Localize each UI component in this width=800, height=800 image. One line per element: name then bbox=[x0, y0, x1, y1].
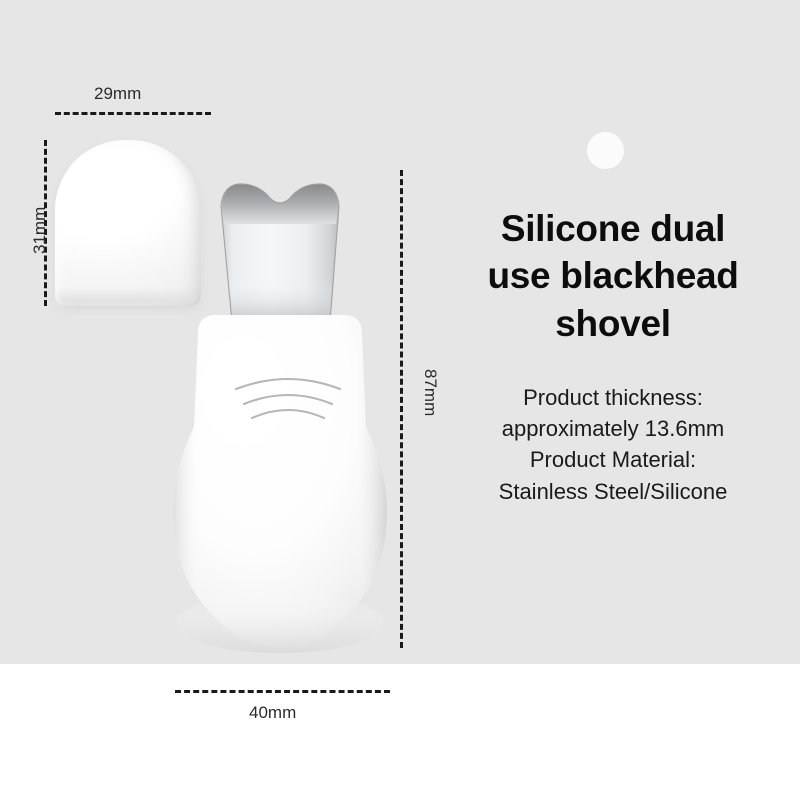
product-title-line-1: Silicone dual bbox=[460, 205, 766, 252]
dimension-label-body-width: 40mm bbox=[249, 703, 296, 723]
decorative-circle bbox=[587, 132, 624, 169]
cap-bottom-edge bbox=[59, 289, 197, 303]
spec-thickness-value: approximately 13.6mm bbox=[455, 413, 771, 444]
cap-highlight bbox=[69, 152, 125, 280]
white-base-strip bbox=[0, 664, 800, 800]
spec-material-label: Product Material: bbox=[455, 444, 771, 475]
dimension-label-body-height: 87mm bbox=[420, 369, 440, 416]
spec-thickness-label: Product thickness: bbox=[455, 382, 771, 413]
dimension-line-cap-width bbox=[55, 112, 211, 115]
product-title-line-3: shovel bbox=[460, 300, 766, 347]
stainless-steel-blade bbox=[214, 172, 346, 324]
dimension-label-cap-height: 31mm bbox=[30, 207, 50, 254]
product-infographic: 29mm 31mm bbox=[0, 0, 800, 800]
wave-lines-icon bbox=[232, 370, 344, 428]
dimension-line-body-height bbox=[400, 170, 403, 648]
product-title-line-2: use blackhead bbox=[460, 252, 766, 299]
product-specs: Product thickness: approximately 13.6mm … bbox=[455, 382, 771, 507]
silicone-bulb-handle bbox=[160, 305, 400, 655]
product-title: Silicone dual use blackhead shovel bbox=[460, 205, 766, 347]
protective-cap bbox=[55, 140, 201, 306]
spec-material-value: Stainless Steel/Silicone bbox=[455, 476, 771, 507]
dimension-line-body-width bbox=[175, 690, 390, 693]
dimension-label-cap-width: 29mm bbox=[94, 84, 141, 104]
